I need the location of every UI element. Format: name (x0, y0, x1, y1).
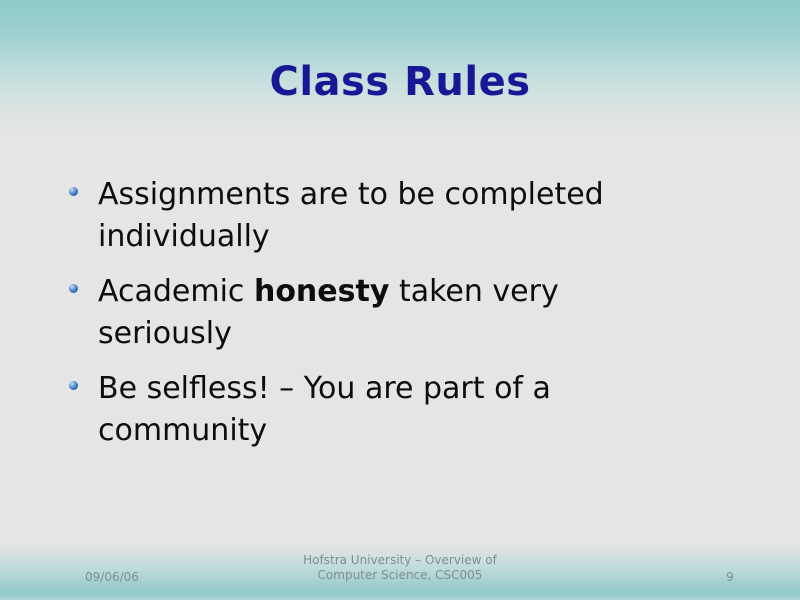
slide-title: Class Rules (0, 58, 800, 106)
bullet-text: Be selfless! – You are part of a communi… (98, 368, 682, 452)
slide-canvas: Class Rules Assignments are to be comple… (0, 0, 800, 600)
bullet-text-segment: Academic (98, 274, 254, 309)
bullet-text-segment: Assignments are to be completed individu… (98, 177, 604, 254)
bullet-dot-icon (69, 187, 78, 196)
bullet-text-segment: Be selfless! – You are part of a communi… (98, 371, 551, 448)
footer-center-line-2: Computer Science, CSC005 (240, 568, 560, 583)
list-item: Be selfless! – You are part of a communi… (62, 368, 682, 452)
footer-center-line-1: Hofstra University – Overview of (240, 553, 560, 568)
footer-page-number: 9 (700, 570, 760, 585)
bullet-text-segment-emphasis: honesty (254, 274, 389, 309)
list-item: Assignments are to be completed individu… (62, 174, 682, 258)
bullet-text: Assignments are to be completed individu… (98, 174, 682, 258)
footer-center: Hofstra University – Overview of Compute… (240, 553, 560, 583)
bullet-text: Academic honesty taken very seriously (98, 271, 682, 355)
bullet-dot-icon (69, 284, 78, 293)
footer-date: 09/06/06 (85, 570, 139, 585)
bullet-list: Assignments are to be completed individu… (62, 174, 682, 452)
bullet-dot-icon (69, 381, 78, 390)
list-item: Academic honesty taken very seriously (62, 271, 682, 355)
